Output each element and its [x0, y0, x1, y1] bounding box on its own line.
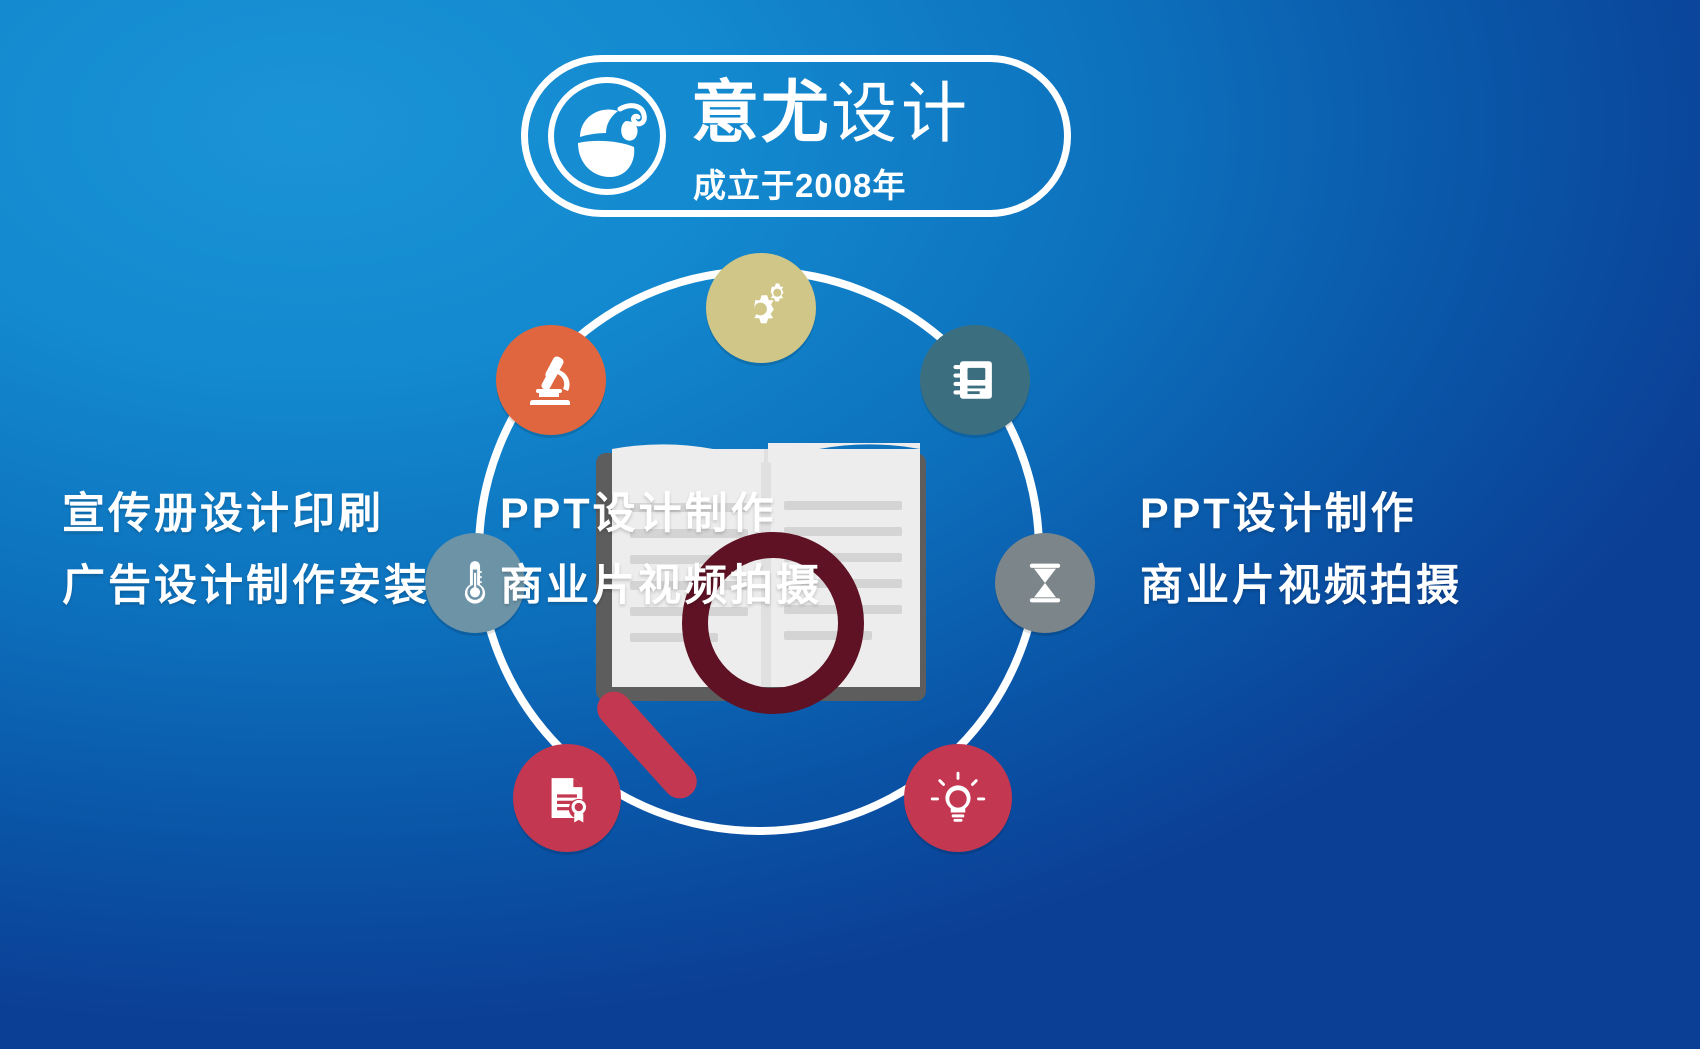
- logo-tagline: 成立于2008年: [693, 159, 906, 207]
- microscope-icon[interactable]: [496, 325, 606, 435]
- service-text-left: 宣传册设计印刷 广告设计制作安装: [62, 478, 430, 622]
- logo-name-bold: 意尤: [691, 75, 831, 151]
- bird-leaf-logomark: [548, 77, 666, 195]
- service-text-center: PPT设计制作 商业片视频拍摄: [500, 478, 822, 622]
- service-left-line1: 宣传册设计印刷: [62, 478, 430, 550]
- notebook-icon[interactable]: [920, 325, 1030, 435]
- service-right-line2: 商业片视频拍摄: [1140, 550, 1462, 622]
- gears-icon[interactable]: [706, 253, 816, 363]
- service-center-line2: 商业片视频拍摄: [500, 550, 822, 622]
- slide-canvas: 意尤设计 成立于2008年: [0, 0, 1700, 1049]
- service-left-line2: 广告设计制作安装: [62, 550, 430, 622]
- logo-wordmark: 意尤设计: [691, 69, 1051, 157]
- logo-name-thin: 设计: [831, 76, 971, 150]
- service-text-right: PPT设计制作 商业片视频拍摄: [1140, 478, 1462, 622]
- service-center-line1: PPT设计制作: [500, 478, 822, 550]
- brand-logo: 意尤设计 成立于2008年: [521, 55, 1071, 217]
- hourglass-icon[interactable]: [995, 533, 1095, 633]
- service-right-line1: PPT设计制作: [1140, 478, 1462, 550]
